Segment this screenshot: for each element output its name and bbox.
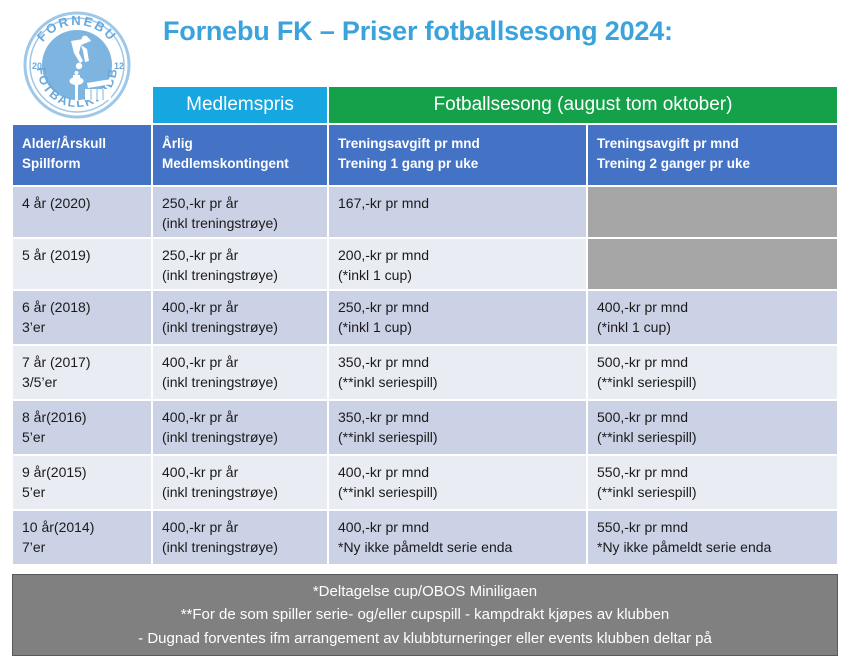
table-row: 9 år(2015) 5’er 400,-kr pr år (inkl tren… xyxy=(12,455,838,510)
column-header-trening-2-ganger-line2: Trening 2 ganger pr uke xyxy=(597,154,828,174)
cell-trening-2-ganger-line1: 550,-kr pr mnd xyxy=(597,463,828,483)
cell-trening-2-ganger: 550,-kr pr mnd (**inkl seriespill) xyxy=(587,455,838,510)
cell-medlemskontingent: 400,-kr pr år (inkl treningstrøye) xyxy=(152,345,328,400)
cell-trening-2-ganger-unavailable xyxy=(587,186,838,238)
table-row: 6 år (2018) 3’er 400,-kr pr år (inkl tre… xyxy=(12,290,838,345)
cell-trening-2-ganger-line1: 500,-kr pr mnd xyxy=(597,353,828,373)
cell-alder-line1: 10 år(2014) xyxy=(22,518,142,538)
cell-medlemskontingent-line1: 250,-kr pr år xyxy=(162,246,318,266)
cell-trening-2-ganger-line1: 400,-kr pr mnd xyxy=(597,298,828,318)
column-header-trening-1-gang-line1: Treningsavgift pr mnd xyxy=(338,134,577,154)
cell-alder: 4 år (2020) xyxy=(12,186,152,238)
cell-alder: 10 år(2014) 7’er xyxy=(12,510,152,565)
cell-trening-1-gang: 400,-kr pr mnd *Ny ikke påmeldt serie en… xyxy=(328,510,587,565)
cell-medlemskontingent: 250,-kr pr år (inkl treningstrøye) xyxy=(152,238,328,290)
cell-alder-line1: 4 år (2020) xyxy=(22,194,142,214)
cell-alder: 8 år(2016) 5’er xyxy=(12,400,152,455)
cell-trening-2-ganger: 500,-kr pr mnd (**inkl seriespill) xyxy=(587,400,838,455)
cell-medlemskontingent: 250,-kr pr år (inkl treningstrøye) xyxy=(152,186,328,238)
cell-trening-2-ganger-unavailable xyxy=(587,238,838,290)
cell-alder: 9 år(2015) 5’er xyxy=(12,455,152,510)
footnotes-block: *Deltagelse cup/OBOS Miniligaen **For de… xyxy=(12,574,838,656)
table-header-row: Alder/Årskull Spillform Årlig Medlemskon… xyxy=(12,124,838,186)
price-table: Medlemspris Fotballsesong (august tom ok… xyxy=(12,86,838,565)
cell-medlemskontingent: 400,-kr pr år (inkl treningstrøye) xyxy=(152,290,328,345)
column-header-trening-1-gang: Treningsavgift pr mnd Trening 1 gang pr … xyxy=(328,124,587,186)
cell-medlemskontingent: 400,-kr pr år (inkl treningstrøye) xyxy=(152,455,328,510)
cell-alder: 6 år (2018) 3’er xyxy=(12,290,152,345)
cell-trening-1-gang-line2: *Ny ikke påmeldt serie enda xyxy=(338,538,577,558)
cell-trening-1-gang: 200,-kr pr mnd (*inkl 1 cup) xyxy=(328,238,587,290)
footnote-line-2: **For de som spiller serie- og/eller cup… xyxy=(181,603,670,626)
cell-medlemskontingent-line2: (inkl treningstrøye) xyxy=(162,266,318,286)
cell-medlemskontingent-line2: (inkl treningstrøye) xyxy=(162,214,318,234)
cell-trening-2-ganger-line1: 550,-kr pr mnd xyxy=(597,518,828,538)
cell-trening-1-gang: 167,-kr pr mnd xyxy=(328,186,587,238)
cell-alder-line2: 3’er xyxy=(22,318,142,338)
cell-trening-2-ganger-line2: (*inkl 1 cup) xyxy=(597,318,828,338)
cell-alder: 5 år (2019) xyxy=(12,238,152,290)
cell-trening-2-ganger: 500,-kr pr mnd (**inkl seriespill) xyxy=(587,345,838,400)
cell-alder: 7 år (2017) 3/5’er xyxy=(12,345,152,400)
cell-trening-2-ganger-line1: 500,-kr pr mnd xyxy=(597,408,828,428)
cell-trening-1-gang-line1: 400,-kr pr mnd xyxy=(338,463,577,483)
group-header-medlemspris: Medlemspris xyxy=(152,86,328,124)
svg-text:20: 20 xyxy=(32,61,42,71)
cell-medlemskontingent-line2: (inkl treningstrøye) xyxy=(162,428,318,448)
cell-trening-2-ganger: 550,-kr pr mnd *Ny ikke påmeldt serie en… xyxy=(587,510,838,565)
cell-trening-1-gang: 350,-kr pr mnd (**inkl seriespill) xyxy=(328,345,587,400)
cell-trening-1-gang-line1: 167,-kr pr mnd xyxy=(338,194,577,214)
cell-trening-1-gang-line2: (**inkl seriespill) xyxy=(338,483,577,503)
table-row: 7 år (2017) 3/5’er 400,-kr pr år (inkl t… xyxy=(12,345,838,400)
footnote-line-3: - Dugnad forventes ifm arrangement av kl… xyxy=(138,627,712,650)
cell-trening-2-ganger-line2: (**inkl seriespill) xyxy=(597,373,828,393)
cell-trening-1-gang-line2: (*inkl 1 cup) xyxy=(338,318,577,338)
cell-trening-1-gang-line2: (*inkl 1 cup) xyxy=(338,266,577,286)
cell-alder-line2: 7’er xyxy=(22,538,142,558)
table-row: 5 år (2019) 250,-kr pr år (inkl trenings… xyxy=(12,238,838,290)
cell-trening-2-ganger-line2: *Ny ikke påmeldt serie enda xyxy=(597,538,828,558)
cell-medlemskontingent-line1: 400,-kr pr år xyxy=(162,408,318,428)
svg-text:12: 12 xyxy=(114,61,124,71)
cell-trening-1-gang-line1: 350,-kr pr mnd xyxy=(338,408,577,428)
table-row: 8 år(2016) 5’er 400,-kr pr år (inkl tren… xyxy=(12,400,838,455)
cell-alder-line1: 6 år (2018) xyxy=(22,298,142,318)
cell-medlemskontingent-line1: 400,-kr pr år xyxy=(162,463,318,483)
cell-medlemskontingent-line1: 250,-kr pr år xyxy=(162,194,318,214)
cell-medlemskontingent-line1: 400,-kr pr år xyxy=(162,518,318,538)
column-header-alder-line1: Alder/Årskull xyxy=(22,134,142,154)
cell-medlemskontingent-line1: 400,-kr pr år xyxy=(162,298,318,318)
column-header-trening-1-gang-line2: Trening 1 gang pr uke xyxy=(338,154,577,174)
cell-medlemskontingent-line2: (inkl treningstrøye) xyxy=(162,538,318,558)
group-header-fotballsesong: Fotballsesong (august tom oktober) xyxy=(328,86,838,124)
cell-trening-2-ganger-line2: (**inkl seriespill) xyxy=(597,428,828,448)
cell-trening-1-gang-line1: 350,-kr pr mnd xyxy=(338,353,577,373)
column-header-medlemskontingent: Årlig Medlemskontingent xyxy=(152,124,328,186)
column-header-alder: Alder/Årskull Spillform xyxy=(12,124,152,186)
footnote-line-1: *Deltagelse cup/OBOS Miniligaen xyxy=(313,580,537,603)
cell-trening-2-ganger-line2: (**inkl seriespill) xyxy=(597,483,828,503)
cell-alder-line2: 3/5’er xyxy=(22,373,142,393)
column-header-medlemskontingent-line2: Medlemskontingent xyxy=(162,154,318,174)
column-header-trening-2-ganger-line1: Treningsavgift pr mnd xyxy=(597,134,828,154)
cell-trening-1-gang-line2: (**inkl seriespill) xyxy=(338,428,577,448)
cell-medlemskontingent-line1: 400,-kr pr år xyxy=(162,353,318,373)
cell-medlemskontingent-line2: (inkl treningstrøye) xyxy=(162,318,318,338)
cell-medlemskontingent: 400,-kr pr år (inkl treningstrøye) xyxy=(152,510,328,565)
page-title: Fornebu FK – Priser fotballsesong 2024: xyxy=(163,16,673,47)
cell-alder-line1: 9 år(2015) xyxy=(22,463,142,483)
cell-medlemskontingent-line2: (inkl treningstrøye) xyxy=(162,483,318,503)
column-header-medlemskontingent-line1: Årlig xyxy=(162,134,318,154)
cell-alder-line1: 5 år (2019) xyxy=(22,246,142,266)
cell-alder-line2: 5’er xyxy=(22,483,142,503)
cell-trening-1-gang-line1: 200,-kr pr mnd xyxy=(338,246,577,266)
cell-medlemskontingent: 400,-kr pr år (inkl treningstrøye) xyxy=(152,400,328,455)
cell-trening-1-gang: 250,-kr pr mnd (*inkl 1 cup) xyxy=(328,290,587,345)
table-row: 4 år (2020) 250,-kr pr år (inkl trenings… xyxy=(12,186,838,238)
cell-trening-1-gang-line1: 400,-kr pr mnd xyxy=(338,518,577,538)
cell-trening-1-gang-line1: 250,-kr pr mnd xyxy=(338,298,577,318)
column-header-alder-line2: Spillform xyxy=(22,154,142,174)
cell-trening-1-gang: 400,-kr pr mnd (**inkl seriespill) xyxy=(328,455,587,510)
cell-alder-line1: 8 år(2016) xyxy=(22,408,142,428)
cell-medlemskontingent-line2: (inkl treningstrøye) xyxy=(162,373,318,393)
cell-trening-1-gang-line2: (**inkl seriespill) xyxy=(338,373,577,393)
cell-alder-line1: 7 år (2017) xyxy=(22,353,142,373)
cell-trening-2-ganger: 400,-kr pr mnd (*inkl 1 cup) xyxy=(587,290,838,345)
table-group-header-row: Medlemspris Fotballsesong (august tom ok… xyxy=(152,86,838,124)
cell-trening-1-gang: 350,-kr pr mnd (**inkl seriespill) xyxy=(328,400,587,455)
cell-alder-line2: 5’er xyxy=(22,428,142,448)
table-row: 10 år(2014) 7’er 400,-kr pr år (inkl tre… xyxy=(12,510,838,565)
column-header-trening-2-ganger: Treningsavgift pr mnd Trening 2 ganger p… xyxy=(587,124,838,186)
